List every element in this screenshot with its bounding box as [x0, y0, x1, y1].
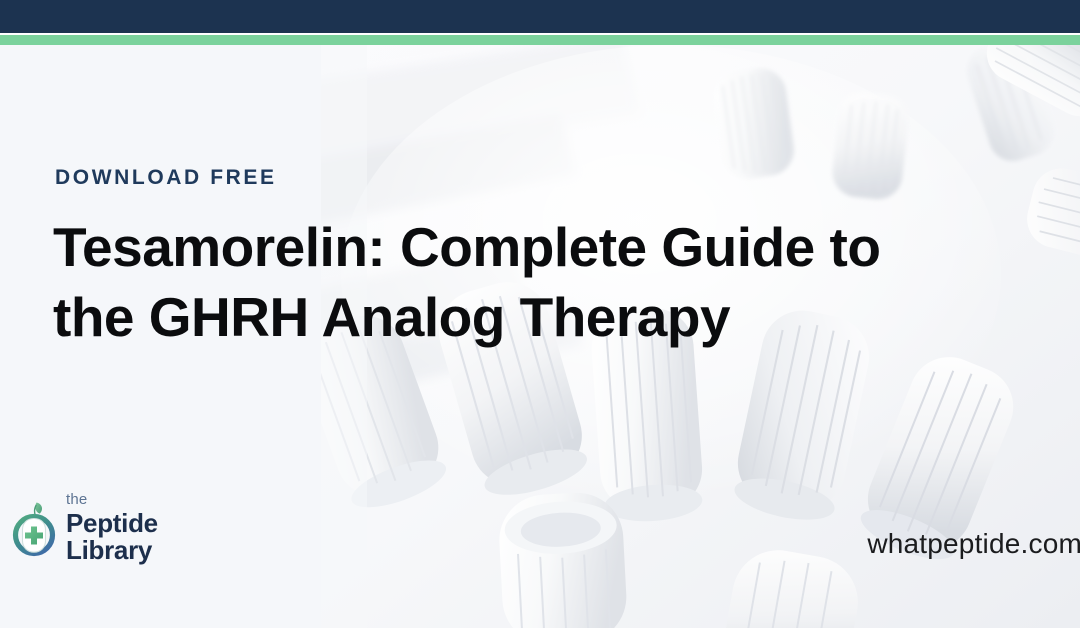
headline-line-2: the GHRH Analog Therapy — [53, 282, 1043, 352]
brand-word-library: Library — [66, 537, 158, 564]
headline-line-1: Tesamorelin: Complete Guide to — [53, 212, 1043, 282]
brand-word-peptide: Peptide — [66, 510, 158, 537]
site-url: whatpeptide.com — [867, 528, 1080, 560]
page-title: Tesamorelin: Complete Guide to the GHRH … — [53, 212, 1043, 352]
brand-logo[interactable]: the Peptide Library — [10, 492, 158, 564]
promo-banner: DOWNLOAD FREE Tesamorelin: Complete Guid… — [0, 0, 1080, 628]
top-navy-bar — [0, 0, 1080, 33]
peptide-library-emblem-icon — [10, 499, 58, 557]
brand-logo-text: the Peptide Library — [66, 492, 158, 564]
top-green-accent-bar — [0, 35, 1080, 45]
brand-the-label: the — [66, 492, 158, 507]
eyebrow-label: DOWNLOAD FREE — [55, 166, 277, 190]
